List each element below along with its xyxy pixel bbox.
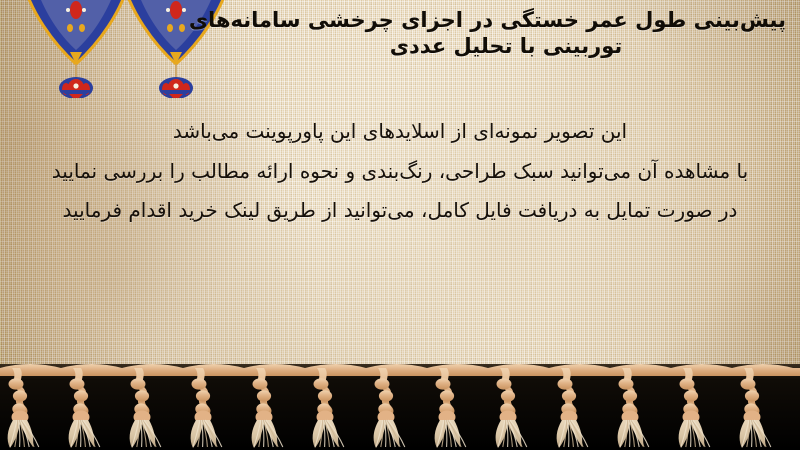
slide-canvas: پیش‌بینی طول عمر خستگی در اجزای چرخشی سا… (0, 0, 800, 450)
body-line-2: با مشاهده آن می‌توانید سبک طراحی، رنگ‌بن… (8, 152, 792, 192)
title-line-1: پیش‌بینی طول عمر خستگی در اجزای چرخشی سا… (226, 8, 786, 34)
persian-carpet-medallion-pendant-icon (26, 0, 126, 98)
slide-title: پیش‌بینی طول عمر خستگی در اجزای چرخشی سا… (226, 8, 786, 59)
carpet-tassel-fringe-icon (0, 354, 800, 450)
slide-body: این تصویر نمونه‌ای از اسلایدهای این پاور… (8, 112, 792, 231)
body-line-1: این تصویر نمونه‌ای از اسلایدهای این پاور… (8, 112, 792, 152)
body-line-3: در صورت تمایل به دریافت فایل کامل، می‌تو… (8, 191, 792, 231)
title-line-2: توربینی با تحلیل عددی (226, 34, 786, 60)
